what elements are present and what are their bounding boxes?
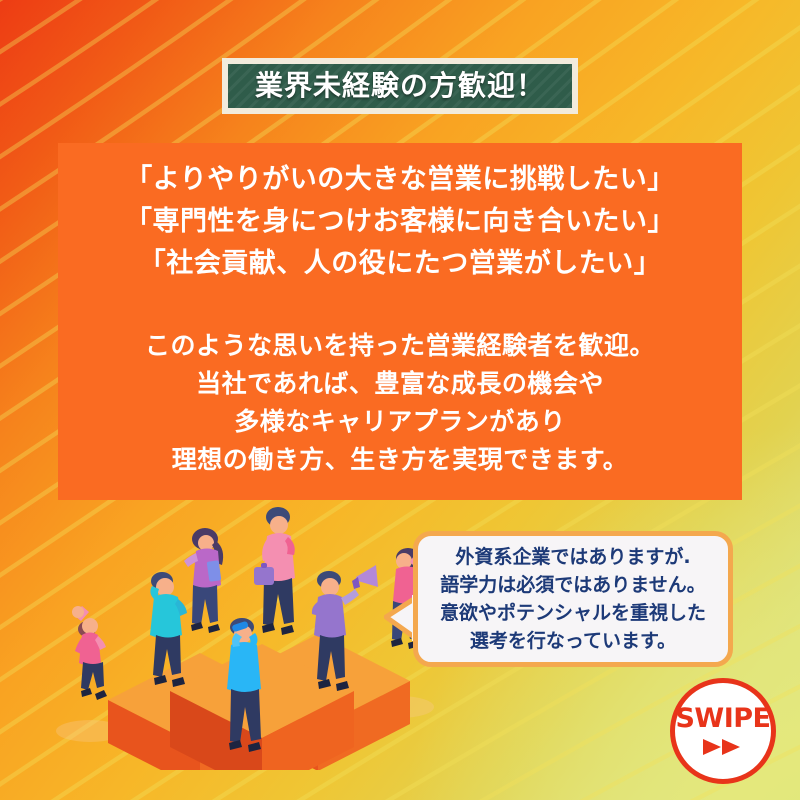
quote-line-1: 「よりやりがいの大きな営業に挑戦したい」 <box>125 159 675 201</box>
quote-line-2: 「専門性を身につけお客様に向き合いたい」 <box>125 201 675 243</box>
header-banner-title: 業界未経験の方歓迎！ <box>255 72 545 100</box>
header-banner: 業界未経験の方歓迎！ <box>222 58 578 114</box>
speech-bubble: 外資系企業ではありますが. 語学力は必須ではありません。 意欲やポテンシャルを重… <box>413 531 733 667</box>
body-line-3: 多様なキャリアプランがあり <box>145 403 655 441</box>
main-message-panel: 「よりやりがいの大きな営業に挑戦したい」 「専門性を身につけお客様に向き合いたい… <box>58 143 742 500</box>
quote-list: 「よりやりがいの大きな営業に挑戦したい」 「専門性を身につけお客様に向き合いたい… <box>125 159 675 285</box>
body-line-2: 当社であれば、豊富な成長の機会や <box>145 365 655 403</box>
speech-bubble-body: 外資系企業ではありますが. 語学力は必須ではありません。 意欲やポテンシャルを重… <box>413 531 733 667</box>
bubble-line-1: 外資系企業ではありますが. <box>455 543 690 571</box>
body-line-1: このような思いを持った営業経験者を歓迎。 <box>145 327 655 365</box>
bubble-line-3: 意欲やポテンシャルを重視した <box>440 599 706 627</box>
header-banner-inner: 業界未経験の方歓迎！ <box>228 64 572 108</box>
slide-canvas: 業界未経験の方歓迎！ 「よりやりがいの大きな営業に挑戦したい」 「専門性を身につ… <box>0 0 800 800</box>
body-line-4: 理想の働き方、生き方を実現できます。 <box>145 441 655 479</box>
swipe-button[interactable]: SWIPE <box>670 678 776 784</box>
body-paragraph: このような思いを持った営業経験者を歓迎。 当社であれば、豊富な成長の機会や 多様… <box>145 327 655 479</box>
fast-forward-icon <box>701 737 745 757</box>
bubble-line-2: 語学力は必須ではありません。 <box>440 571 705 599</box>
swipe-label: SWIPE <box>675 705 770 732</box>
bubble-line-4: 選考を行なっています。 <box>470 627 676 655</box>
quote-line-3: 「社会貢献、人の役にたつ営業がしたい」 <box>125 243 675 285</box>
